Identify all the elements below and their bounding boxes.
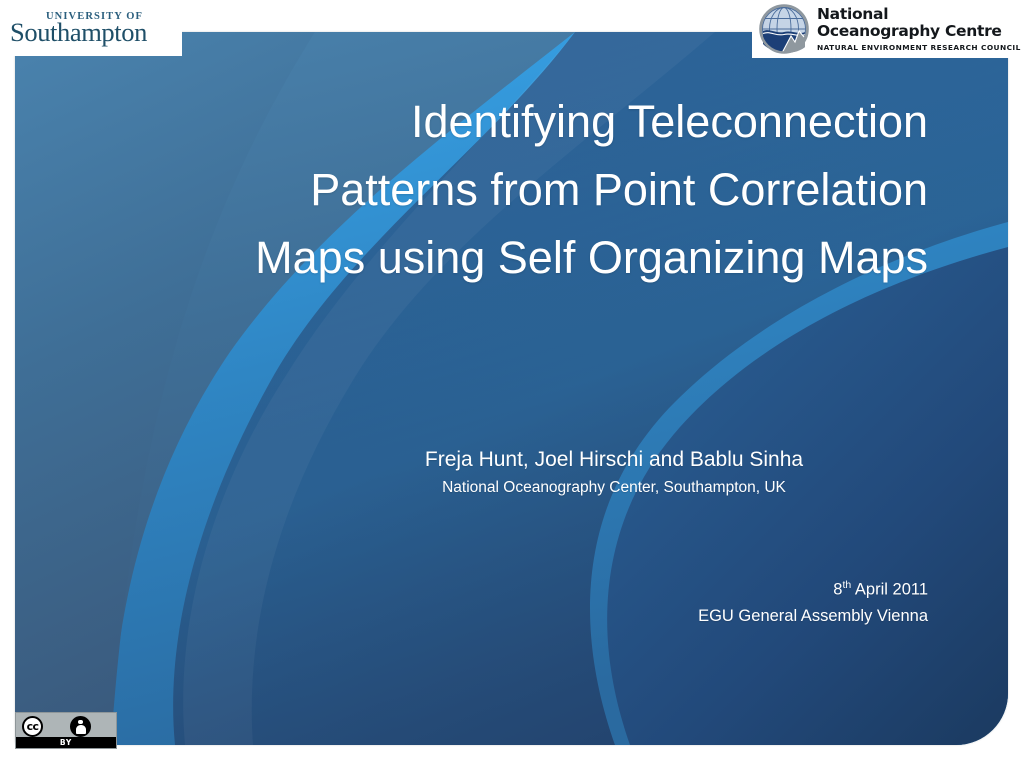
creative-commons-icon: cc: [22, 716, 43, 737]
person-icon-body: [76, 725, 86, 734]
event-name: EGU General Assembly Vienna: [420, 603, 928, 629]
person-icon-head: [78, 720, 82, 724]
university-of-southampton-logo: UNIVERSITY OF Southampton: [0, 0, 182, 56]
author-affiliation: National Oceanography Center, Southampto…: [300, 477, 928, 499]
noc-logo-line2: Oceanography Centre: [817, 23, 1021, 40]
person-icon-glyph: [75, 719, 86, 734]
cc-mark-label: cc: [27, 720, 39, 733]
creative-commons-license-badge[interactable]: cc BY: [15, 712, 117, 749]
cc-badge-strip-label: BY: [16, 737, 116, 748]
cc-badge-icons: cc: [16, 713, 116, 739]
title-line-2: Patterns from Point Correlation: [100, 156, 928, 224]
authors-block: Freja Hunt, Joel Hirschi and Bablu Sinha…: [300, 447, 928, 499]
title-slide: UNIVERSITY OF Southampton National Ocean…: [0, 0, 1024, 768]
noc-logo-text: National Oceanography Centre NATURAL ENV…: [817, 6, 1021, 51]
soton-logo-line2: Southampton: [10, 17, 147, 48]
noc-logo-line1: National: [817, 6, 1021, 23]
title-line-1: Identifying Teleconnection: [100, 88, 928, 156]
noc-logo-line3: NATURAL ENVIRONMENT RESEARCH COUNCIL: [817, 43, 1021, 52]
page-title: Identifying Teleconnection Patterns from…: [100, 88, 928, 292]
national-oceanography-centre-logo: National Oceanography Centre NATURAL ENV…: [752, 0, 1024, 58]
author-names: Freja Hunt, Joel Hirschi and Bablu Sinha: [300, 447, 928, 473]
event-block: 8th April 2011 EGU General Assembly Vien…: [420, 572, 928, 629]
event-date-rest: April 2011: [851, 581, 928, 599]
event-date: 8th April 2011: [420, 572, 928, 603]
globe-icon: [758, 3, 810, 55]
title-line-3: Maps using Self Organizing Maps: [100, 224, 928, 292]
event-date-ordinal: th: [842, 579, 851, 591]
person-icon: [70, 716, 91, 737]
